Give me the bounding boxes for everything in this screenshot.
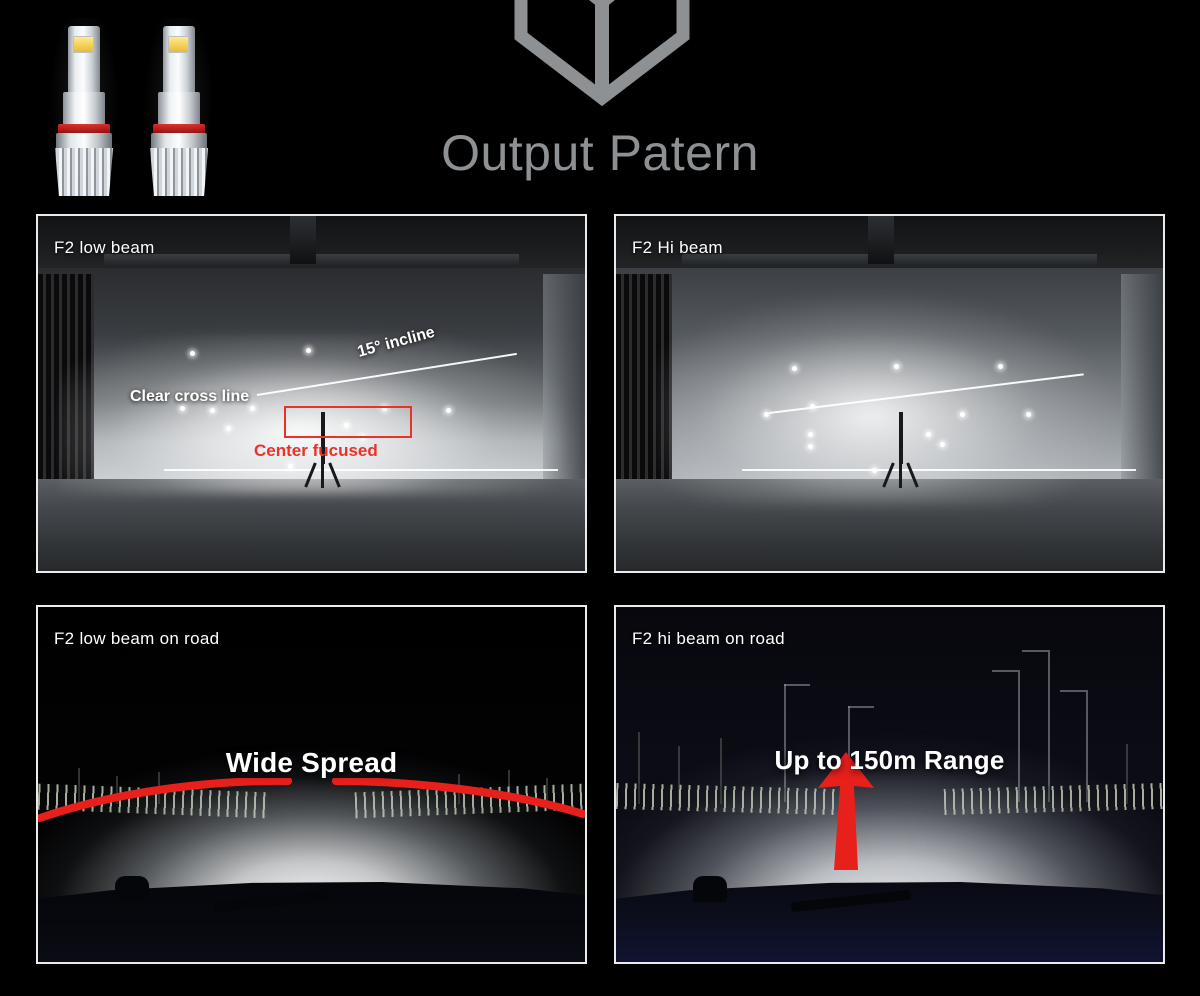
reference-dot <box>872 468 877 473</box>
lamp-arm <box>784 684 810 686</box>
night-road-hi-beam-scene: Up to 150m Range <box>616 607 1163 962</box>
tripod-leg <box>882 462 895 487</box>
reference-dot <box>926 432 931 437</box>
panel-f2-low-beam-on-road: Wide Spread F2 low beam on road <box>36 605 587 964</box>
reference-dot <box>810 404 815 409</box>
wide-spread-callout: Wide Spread <box>226 747 398 779</box>
tripod-leg <box>899 462 902 488</box>
reference-dot <box>808 444 813 449</box>
range-callout: Up to 150m Range <box>774 745 1004 776</box>
tripod-leg <box>304 462 317 487</box>
lamp-arm <box>1060 690 1086 692</box>
tripod-leg <box>906 462 919 487</box>
wiper-mount <box>693 876 727 902</box>
lamp-arm <box>992 670 1018 672</box>
lamp-arm <box>1022 650 1048 652</box>
warehouse-low-beam-scene: Clear cross line 15° incline Center fucu… <box>38 216 585 571</box>
reference-dot <box>288 464 293 469</box>
warehouse-hi-beam-scene <box>616 216 1163 571</box>
wiper-mount <box>115 876 149 902</box>
panel-label-f2-low-beam: F2 low beam <box>54 238 155 258</box>
page-title: Output Patern <box>0 124 1200 182</box>
reference-dot <box>792 366 797 371</box>
reference-dot <box>446 408 451 413</box>
red-spread-arc <box>38 778 585 824</box>
panel-f2-hi-beam-on-road: Up to 150m Range F2 hi beam on road <box>614 605 1165 964</box>
clear-cross-line-note: Clear cross line <box>130 388 249 406</box>
ceiling-duct <box>290 216 316 264</box>
ceiling-duct <box>868 216 894 264</box>
panel-label-f2-hi-beam-on-road: F2 hi beam on road <box>632 629 785 649</box>
beam-pattern-panel-grid: Clear cross line 15° incline Center fucu… <box>36 214 1166 964</box>
right-wall <box>1121 274 1163 496</box>
product-output-pattern-page: Output Patern <box>0 0 1200 996</box>
reference-dot <box>226 426 231 431</box>
reference-dot <box>210 408 215 413</box>
reference-dot <box>894 364 899 369</box>
beam-cutoff-line <box>164 469 558 471</box>
reference-dot <box>250 406 255 411</box>
reference-dot <box>808 432 813 437</box>
shield-hexagon-logo-icon <box>505 0 700 118</box>
panel-f2-low-beam: Clear cross line 15° incline Center fucu… <box>36 214 587 573</box>
reference-dot <box>998 364 1003 369</box>
reference-dot <box>190 351 195 356</box>
center-focus-box <box>284 406 412 438</box>
center-focused-note: Center fucused <box>254 441 378 461</box>
tripod-stand-icon <box>884 412 918 488</box>
reference-dot <box>1026 412 1031 417</box>
reference-dot <box>306 348 311 353</box>
night-road-low-beam-scene: Wide Spread <box>38 607 585 962</box>
lamp-arm <box>848 706 874 708</box>
tripod-pole <box>899 412 903 464</box>
reference-dot <box>764 412 769 417</box>
panel-label-f2-low-beam-on-road: F2 low beam on road <box>54 629 219 649</box>
reference-dot <box>180 406 185 411</box>
beam-reference-line <box>742 469 1136 471</box>
reference-dot <box>940 442 945 447</box>
reference-dot <box>960 412 965 417</box>
tripod-leg <box>328 462 341 487</box>
panel-label-f2-hi-beam: F2 Hi beam <box>632 238 723 258</box>
tripod-leg <box>321 462 324 488</box>
page-header: Output Patern <box>0 0 1200 205</box>
panel-f2-hi-beam: F2 Hi beam <box>614 214 1165 573</box>
